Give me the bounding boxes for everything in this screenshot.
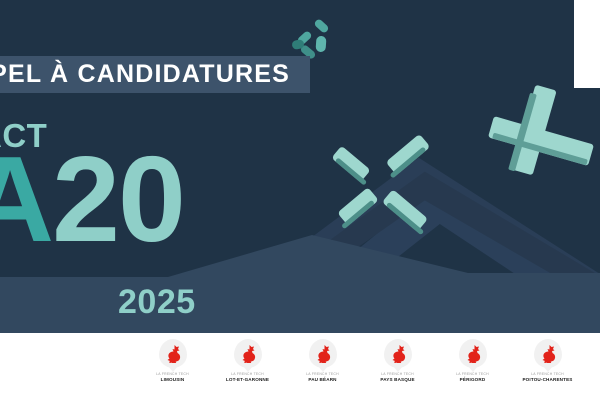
rooster-icon [389,344,406,363]
partner-logo: LA FRENCH TECHPAU BÉARN [294,339,352,382]
partner-logo: LA FRENCH TECHPAYS BASQUE [369,339,427,382]
hero-panel: PEL À CANDIDATURES ACT A20 2025 [0,0,600,333]
partner-logo-strip: LA FRENCH TECHLIMOUSINLA FRENCH TECHLOT-… [0,333,600,400]
partner-logo-name: PÉRIGORD [460,377,486,383]
partner-logo: LA FRENCH TECHPÉRIGORD [444,339,502,382]
pin-shape [309,339,337,368]
main-title-letter: A [0,131,52,267]
partner-logo: LA FRENCH TECHLOT-ET-GARONNE [219,339,277,382]
year-text: 2025 [118,283,196,322]
banner-label: PEL À CANDIDATURES [0,56,304,93]
plus-mark-icon [487,84,597,194]
main-title-number: 20 [52,131,184,267]
partner-logo: LA FRENCH TECHLIMOUSIN [144,339,202,382]
rooster-icon [539,344,556,363]
pin-shape [384,339,412,368]
rooster-icon [239,344,256,363]
main-title: A20 [0,138,184,260]
partner-logo-name: LOT-ET-GARONNE [226,377,269,383]
partner-logo-name: PAU BÉARN [308,377,336,383]
pin-shape [534,339,562,368]
partner-logo-name: LIMOUSIN [161,377,185,383]
poster-canvas: PEL À CANDIDATURES ACT A20 2025 LA FRENC… [0,0,600,400]
pin-shape [459,339,487,368]
partner-logo-name: POITOU-CHARENTES [522,377,572,383]
partner-logo-name: PAYS BASQUE [380,377,414,383]
rooster-icon [314,344,331,363]
x-mark-large-icon [330,140,442,252]
pin-shape [234,339,262,368]
pin-shape [159,339,187,368]
rooster-icon [464,344,481,363]
corner-notch [574,0,600,88]
partner-logo: LA FRENCH TECHPOITOU-CHARENTES [519,339,577,382]
rooster-icon [164,344,181,363]
